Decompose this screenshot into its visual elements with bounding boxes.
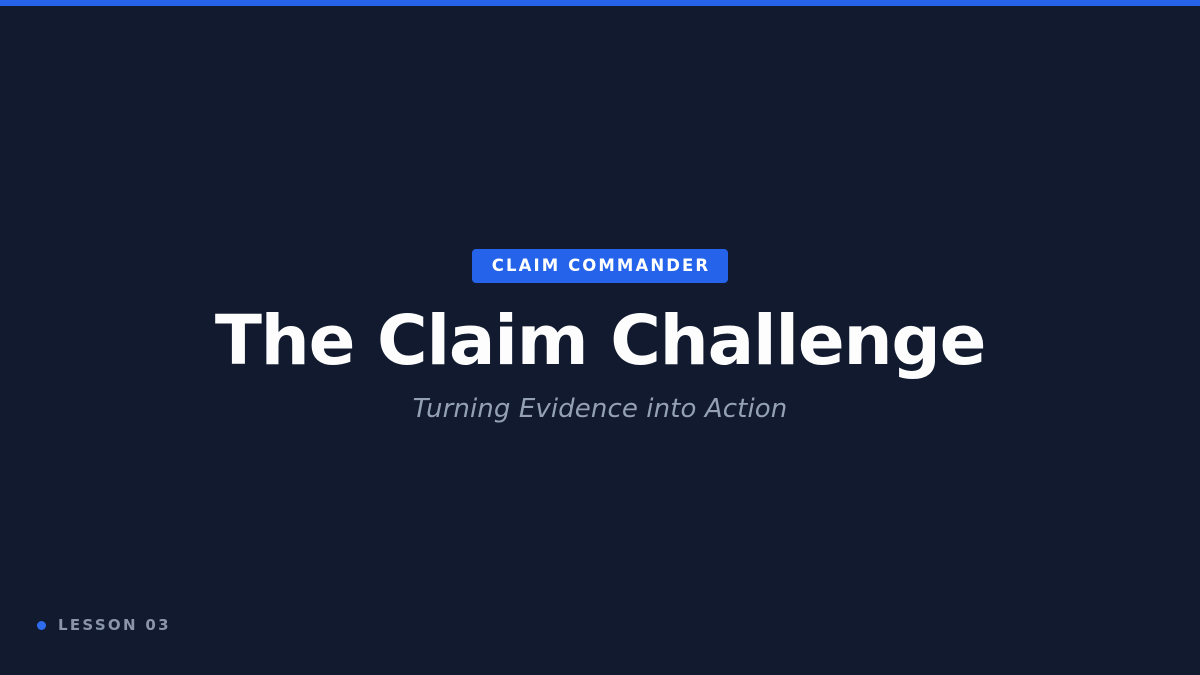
slide-subtitle: Turning Evidence into Action: [413, 394, 788, 425]
slide-title: The Claim Challenge: [215, 305, 985, 377]
bullet-dot-icon: [37, 621, 46, 630]
title-slide: CLAIM COMMANDER The Claim Challenge Turn…: [0, 0, 1200, 675]
lesson-marker: LESSON 03: [37, 618, 171, 633]
lesson-label: LESSON 03: [58, 618, 171, 633]
hero-block: CLAIM COMMANDER The Claim Challenge Turn…: [0, 0, 1200, 675]
course-badge: CLAIM COMMANDER: [472, 249, 728, 283]
